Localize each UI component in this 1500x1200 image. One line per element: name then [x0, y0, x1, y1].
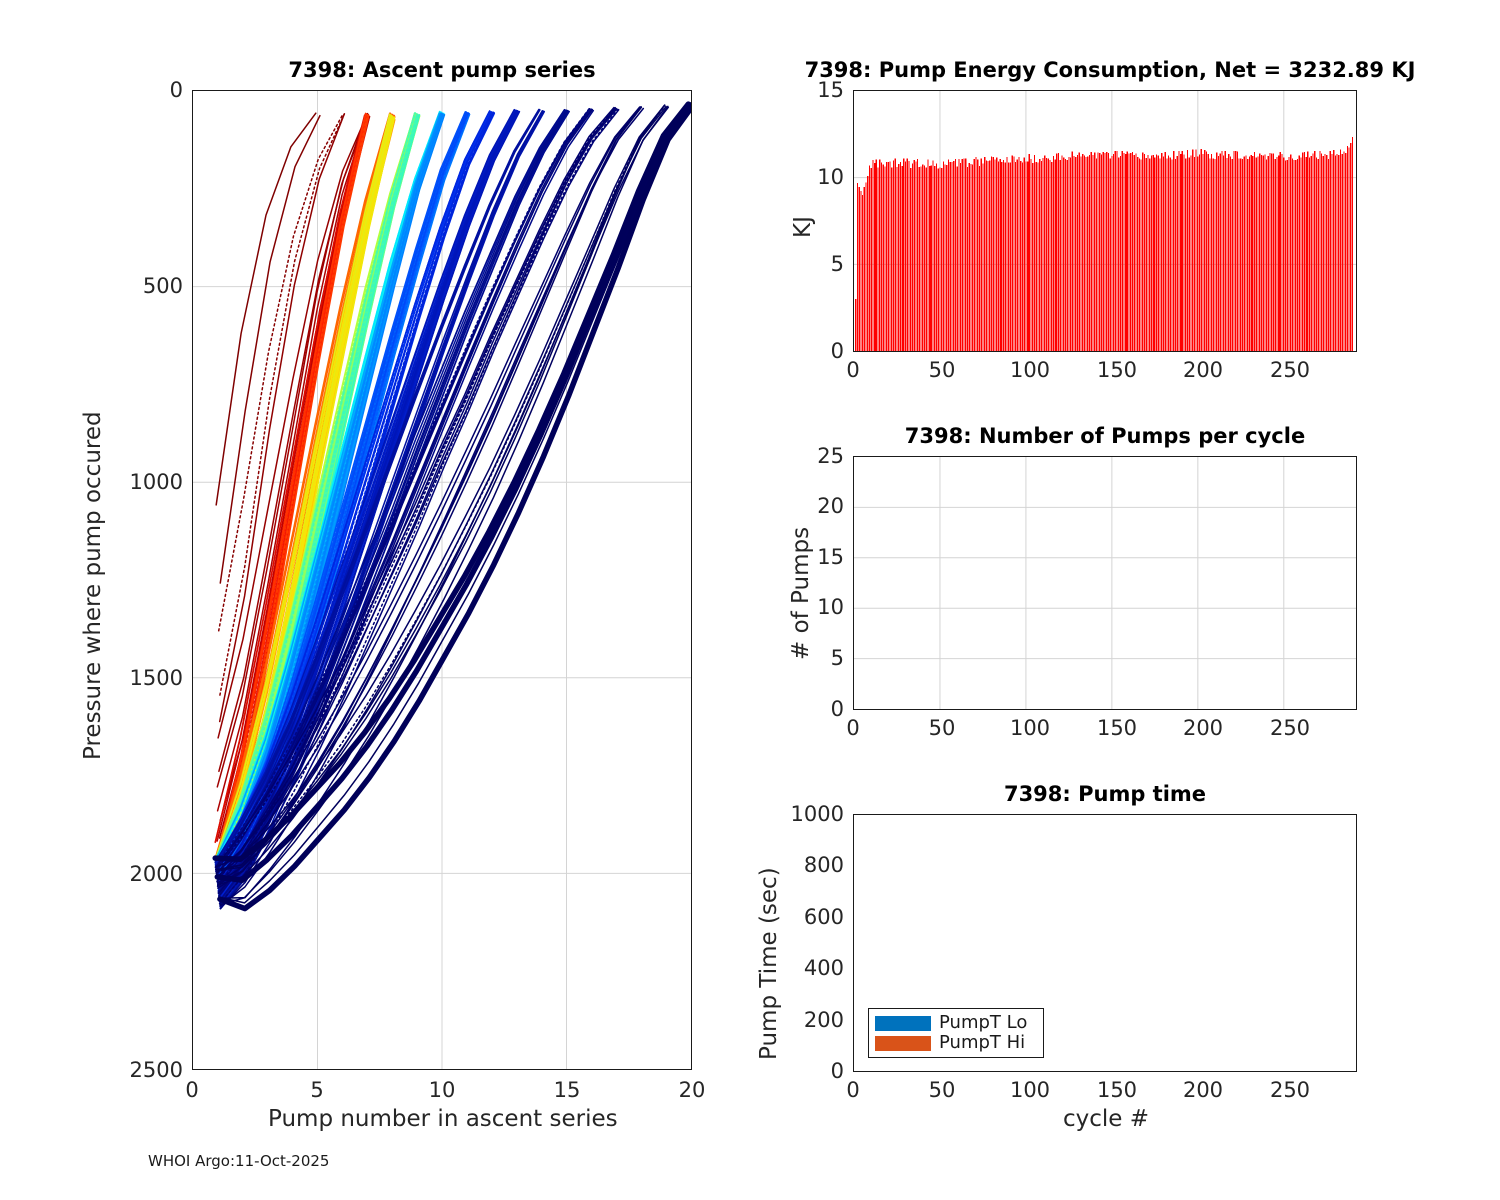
pumptime-ytick-0: 0	[764, 1059, 844, 1083]
ascent-ytick-2000: 2000	[107, 862, 183, 886]
pumps-ytick-25: 25	[798, 444, 844, 468]
pumps-plot-title: 7398: Number of Pumps per cycle	[855, 424, 1355, 448]
pumptime-legend[interactable]: PumpT Lo PumpT Hi	[868, 1008, 1044, 1058]
ascent-ytick-0: 0	[115, 78, 183, 102]
ascent-xtick-5: 5	[297, 1078, 337, 1102]
ascent-xtick-15: 15	[547, 1078, 587, 1102]
pumps-plot-area	[854, 457, 1356, 709]
energy-xtick-250: 250	[1264, 358, 1316, 382]
ascent-xtick-10: 10	[422, 1078, 462, 1102]
ascent-ytick-1500: 1500	[107, 666, 183, 690]
energy-ytick-10: 10	[800, 165, 844, 189]
energy-xtick-200: 200	[1177, 358, 1229, 382]
pumps-xtick-0: 0	[833, 716, 873, 740]
energy-ytick-5: 5	[800, 252, 844, 276]
ascent-plot-title: 7398: Ascent pump series	[192, 58, 692, 82]
ascent-xtick-0: 0	[172, 1078, 212, 1102]
ascent-ytick-1000: 1000	[107, 470, 183, 494]
pumps-ytick-20: 20	[798, 494, 844, 518]
energy-xtick-50: 50	[920, 358, 964, 382]
pumps-xtick-150: 150	[1091, 716, 1143, 740]
ascent-ytick-500: 500	[115, 274, 183, 298]
pumptime-xtick-50: 50	[920, 1078, 964, 1102]
legend-swatch-pumpt-hi	[875, 1036, 931, 1051]
pumptime-xtick-250: 250	[1264, 1078, 1316, 1102]
pumptime-yaxis-label: Pump Time (sec)	[756, 867, 782, 1060]
figure-canvas: 7398: Ascent pump series 0 500 1000 1500…	[0, 0, 1500, 1200]
pumptime-xtick-100: 100	[1004, 1078, 1056, 1102]
pumps-xtick-200: 200	[1177, 716, 1229, 740]
pumptime-plot-title: 7398: Pump time	[855, 782, 1355, 806]
energy-xtick-150: 150	[1091, 358, 1143, 382]
legend-item-pumpt-lo[interactable]: PumpT Lo	[875, 1013, 1037, 1033]
legend-label-pumpt-hi: PumpT Hi	[939, 1034, 1025, 1052]
ascent-yaxis-label: Pressure where pump occured	[80, 411, 106, 760]
ascent-xtick-20: 20	[672, 1078, 712, 1102]
pumptime-xaxis-label: cycle #	[1063, 1106, 1149, 1132]
energy-yaxis-label: KJ	[790, 216, 816, 238]
energy-axes	[853, 90, 1357, 352]
legend-label-pumpt-lo: PumpT Lo	[939, 1014, 1027, 1032]
pumps-axes	[853, 456, 1357, 710]
energy-xtick-0: 0	[833, 358, 873, 382]
pumptime-xtick-0: 0	[833, 1078, 873, 1102]
energy-plot-title: 7398: Pump Energy Consumption, Net = 323…	[760, 58, 1460, 82]
pumptime-ytick-1000: 1000	[764, 802, 844, 826]
legend-item-pumpt-hi[interactable]: PumpT Hi	[875, 1033, 1037, 1053]
energy-plot-area	[854, 91, 1356, 351]
ascent-xaxis-label: Pump number in ascent series	[268, 1106, 618, 1132]
legend-swatch-pumpt-lo	[875, 1016, 931, 1031]
pumps-yaxis-label: # of Pumps	[788, 527, 814, 660]
ascent-axes	[192, 90, 692, 1070]
energy-xtick-100: 100	[1004, 358, 1056, 382]
pumps-xtick-100: 100	[1004, 716, 1056, 740]
pumps-xtick-250: 250	[1264, 716, 1316, 740]
energy-ytick-15: 15	[800, 78, 844, 102]
pumps-xtick-50: 50	[920, 716, 964, 740]
ascent-plot-area	[193, 91, 691, 1069]
pumptime-xtick-200: 200	[1177, 1078, 1229, 1102]
pumptime-xtick-150: 150	[1091, 1078, 1143, 1102]
footer-credit: WHOI Argo:11-Oct-2025	[148, 1152, 329, 1170]
